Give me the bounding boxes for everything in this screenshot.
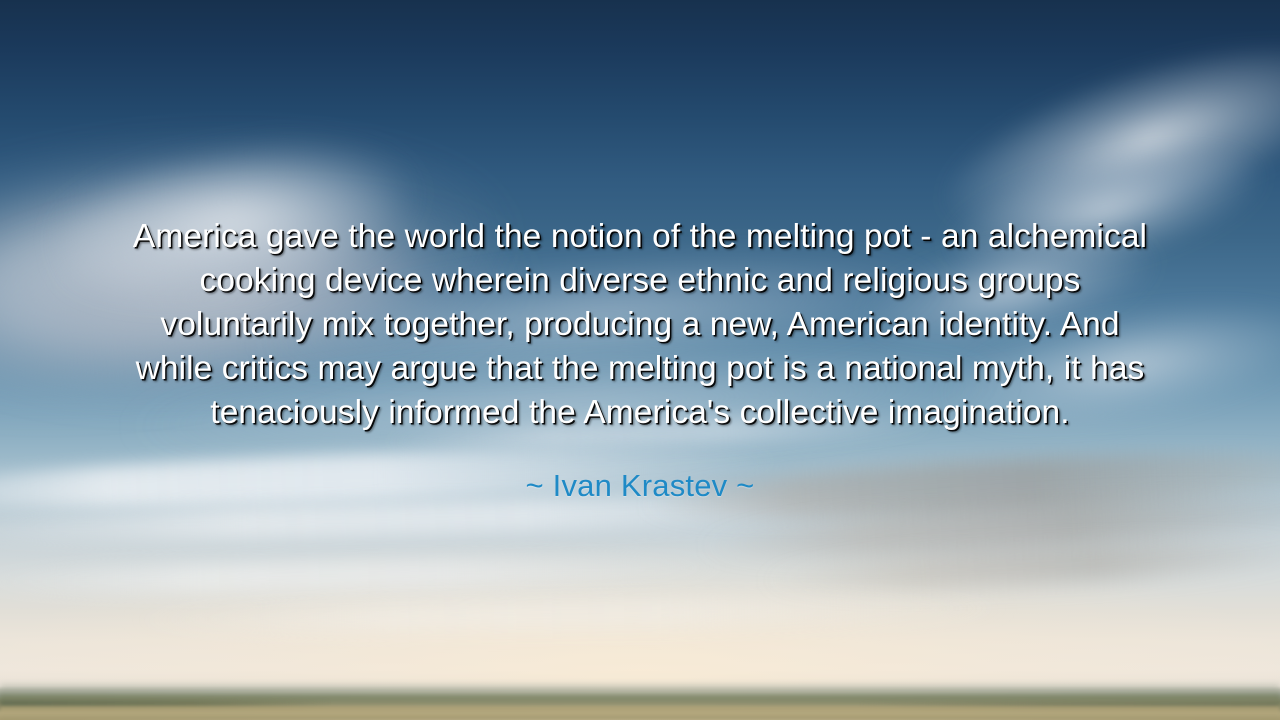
quote-attribution: ~ Ivan Krastev ~	[526, 467, 755, 505]
quote-card: America gave the world the notion of the…	[0, 0, 1280, 720]
quote-text: America gave the world the notion of the…	[130, 215, 1150, 435]
quote-content: America gave the world the notion of the…	[0, 0, 1280, 720]
